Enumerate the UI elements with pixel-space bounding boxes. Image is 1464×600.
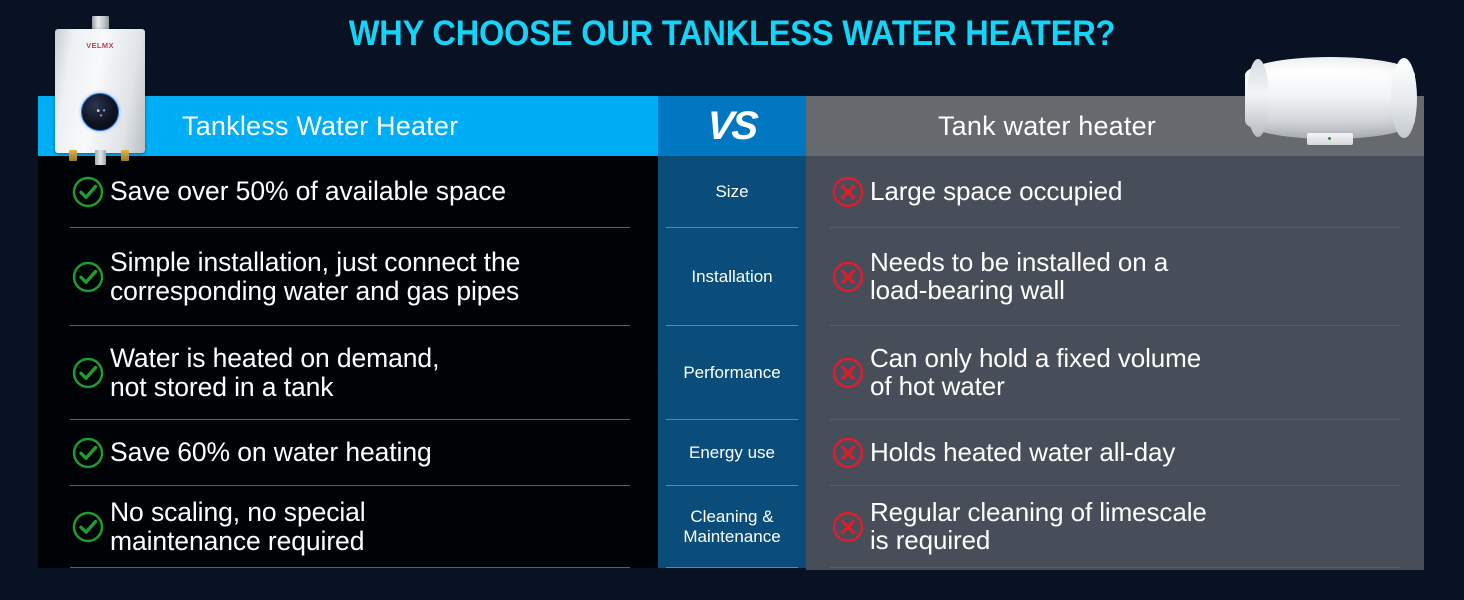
check-circle-icon [70,259,106,295]
infographic-root: WHY CHOOSE OUR TANKLESS WATER HEATER? Ta… [0,0,1464,600]
tank-feature-list: Large space occupied Needs to be install… [806,156,1424,568]
list-item: Needs to be installed on a load-bearing … [830,228,1400,326]
criteria-list: Size Installation Performance Energy use… [658,156,806,568]
tank-heater-image [1245,57,1415,155]
flue-pipe [92,16,109,30]
water-pipe [95,150,106,165]
list-item: Large space occupied [830,156,1400,228]
criteria-item-performance: Performance [666,326,798,420]
criteria-item-cleaning-maintenance: Cleaning & Maintenance [666,486,798,568]
brand-label: VELMX [55,41,145,50]
list-item: Holds heated water all-day [830,420,1400,486]
list-item-text: Needs to be installed on a load-bearing … [870,249,1168,305]
criteria-item-installation: Installation [666,228,798,326]
list-item-text: Holds heated water all-day [870,439,1175,467]
criteria-label: Cleaning & Maintenance [683,507,780,545]
list-item-text: Water is heated on demand, not stored in… [110,344,439,401]
list-item-text: Large space occupied [870,178,1122,206]
list-item-text: Save over 50% of available space [110,177,506,205]
list-item-text: No scaling, no special maintenance requi… [110,498,366,555]
check-circle-icon [70,435,106,471]
list-item-text: Regular cleaning of limescale is require… [870,499,1207,555]
gas-fitting-right [121,150,129,161]
tankless-feature-list: Save over 50% of available space Simple … [38,156,658,568]
tank-left-endcap [1247,59,1269,137]
vs-column-header: VS [658,96,806,156]
cross-circle-icon [830,509,866,545]
criteria-label: Performance [683,363,780,382]
vs-label: VS [706,104,759,149]
tank-header-label: Tank water heater [938,111,1156,142]
tank-right-endcap [1391,58,1417,138]
status-led-icon [1328,137,1331,140]
cross-circle-icon [830,174,866,210]
criteria-item-energy-use: Energy use [666,420,798,486]
tankless-heater-image: VELMX [55,16,145,164]
criteria-label: Installation [691,267,772,286]
list-item-text: Simple installation, just connect the co… [110,248,520,305]
page-title: WHY CHOOSE OUR TANKLESS WATER HEATER? [51,14,1413,54]
list-item-text: Save 60% on water heating [110,438,432,466]
list-item: Save 60% on water heating [70,420,630,486]
list-item: Water is heated on demand, not stored in… [70,326,630,420]
list-item: Save over 50% of available space [70,156,630,228]
criteria-label: Size [715,182,748,201]
criteria-label: Energy use [689,443,775,462]
criteria-item-size: Size [666,156,798,228]
list-item-text: Can only hold a fixed volume of hot wate… [870,345,1201,401]
check-circle-icon [70,355,106,391]
list-item: Can only hold a fixed volume of hot wate… [830,326,1400,420]
check-circle-icon [70,174,106,210]
cross-circle-icon [830,355,866,391]
control-dial [81,93,119,131]
check-circle-icon [70,509,106,545]
list-item: No scaling, no special maintenance requi… [70,486,630,568]
cross-circle-icon [830,435,866,471]
list-item: Regular cleaning of limescale is require… [830,486,1400,568]
cross-circle-icon [830,259,866,295]
gas-fitting-left [69,150,77,161]
tank-drum [1245,57,1415,139]
list-item: Simple installation, just connect the co… [70,228,630,326]
